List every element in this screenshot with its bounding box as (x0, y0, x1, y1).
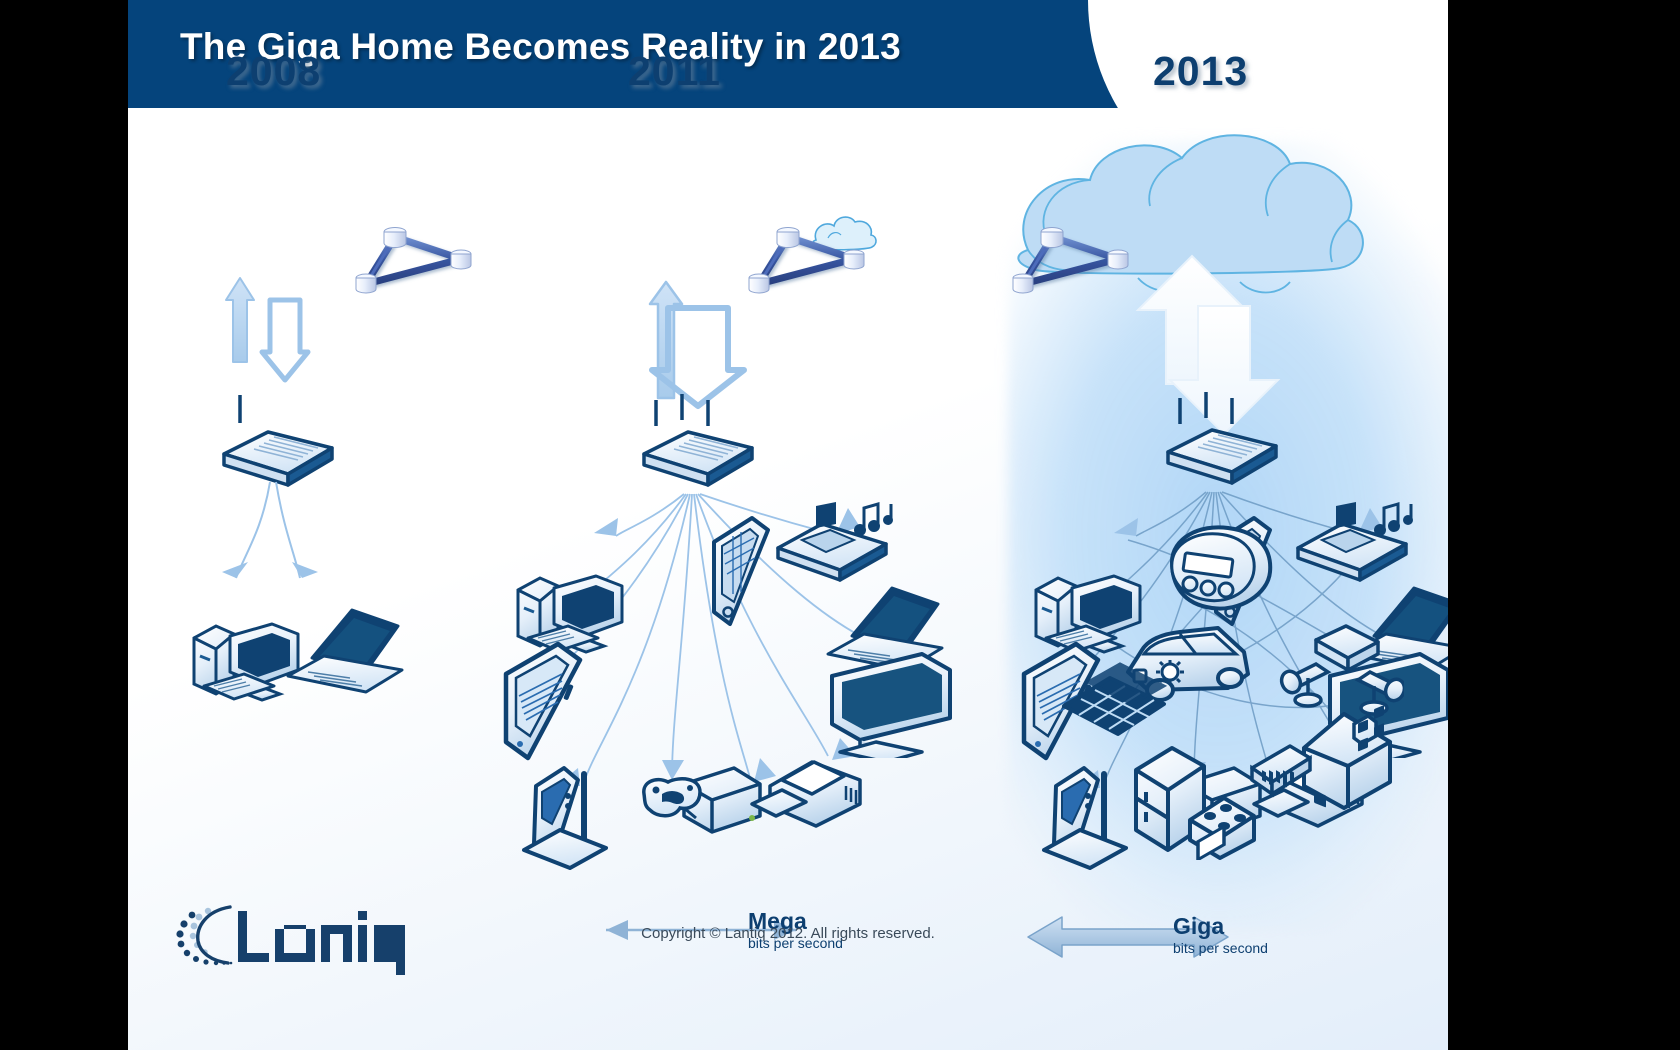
wifi-router-icon-2011 (644, 432, 752, 485)
smart-meter-icon-2013 (1172, 527, 1270, 608)
cordless-phone-icon-2013 (1044, 768, 1126, 868)
laptop-icon-2008 (288, 610, 402, 692)
desktop-pc-icon-2011 (518, 576, 622, 652)
infographic-scene (128, 0, 1448, 1050)
wifi-router-icon-2013 (1168, 430, 1276, 483)
desktop-pc-icon-2013 (1036, 576, 1140, 652)
logo-wordmark (238, 911, 405, 975)
uplink-arrow-2008 (226, 278, 254, 362)
smart-home-icon-2013 (1252, 705, 1390, 808)
smart-appliance-icon-2013 (1136, 748, 1254, 860)
tablet-ereader-icon-2011 (506, 644, 580, 758)
network-triangle-icon-2008 (356, 228, 471, 294)
television-icon-2011 (832, 654, 950, 762)
media-streamer-icon-2011 (778, 502, 893, 580)
column-2013 (1013, 228, 1448, 869)
desktop-pc-icon-2008 (194, 624, 298, 700)
year-label-2013: 2013 (1153, 48, 1248, 95)
bandwidth-sub-giga: bits per second (1173, 941, 1268, 956)
lantiq-logo-svg (166, 895, 406, 975)
modem-icon-2008 (224, 432, 332, 485)
slide-canvas: The Giga Home Becomes Reality in 2013 20… (128, 0, 1448, 1050)
cordless-phone-icon-2011 (524, 768, 606, 868)
downlink-arrow-2008 (262, 300, 308, 380)
lantiq-logo (166, 895, 406, 975)
logo-arc-dots (176, 907, 232, 965)
smartphone-icon-2011 (714, 518, 768, 624)
connection-arrowheads-2008 (222, 562, 318, 578)
media-streamer-icon-2013 (1298, 502, 1413, 580)
column-2011 (506, 228, 950, 869)
game-console-icon-2011 (644, 768, 760, 832)
column-2008 (194, 228, 471, 701)
